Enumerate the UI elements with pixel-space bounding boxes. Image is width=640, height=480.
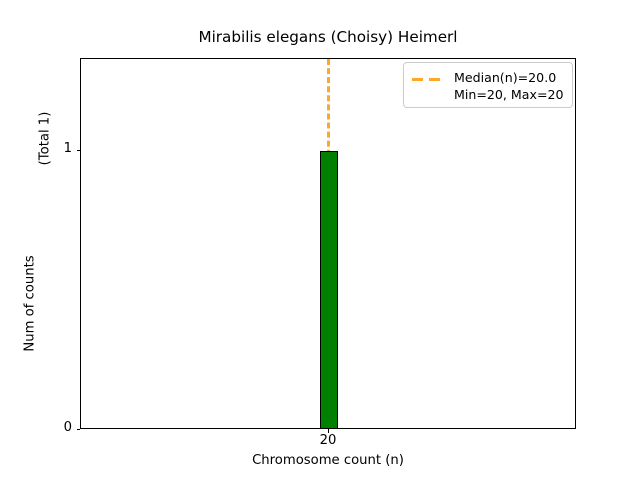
x-tick-mark-20 [328,429,329,433]
x-axis-label: Chromosome count (n) [80,453,576,468]
plot-area [80,58,576,429]
legend-label-group: Median(n)=20.0 Min=20, Max=20 [454,69,564,103]
y-axis-label-line2: (Total 1) [37,112,52,166]
y-axis-label-line1: Num of counts [23,255,38,351]
y-tick-label-1: 1 [52,141,72,156]
y-axis-label: Num of counts (Total 1) [0,0,40,480]
bar-chromosome-20[interactable] [320,151,338,429]
legend-label-median: Median(n)=20.0 [454,69,564,86]
legend-entry-median: Median(n)=20.0 Min=20, Max=20 [404,63,572,107]
y-tick-label-0: 0 [52,420,72,435]
chart-figure: Mirabilis elegans (Choisy) Heimerl Num o… [0,0,640,480]
legend-label-minmax: Min=20, Max=20 [454,86,564,103]
x-tick-label-20: 20 [320,433,337,448]
chart-title: Mirabilis elegans (Choisy) Heimerl [80,28,576,46]
legend-dashed-line-icon [412,72,446,86]
legend: Median(n)=20.0 Min=20, Max=20 [403,62,573,108]
